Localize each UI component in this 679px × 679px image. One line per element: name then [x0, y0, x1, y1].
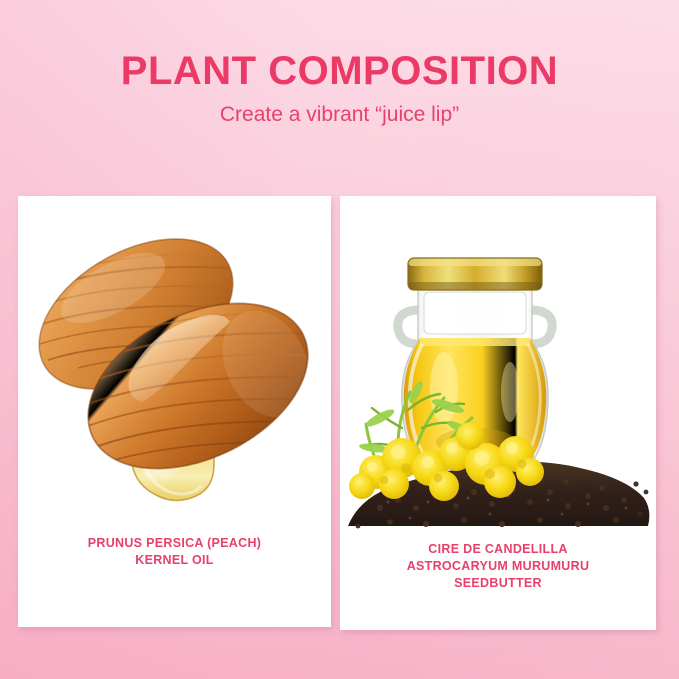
almonds-with-oil-drop-image — [18, 196, 331, 546]
caption-line: ASTROCARYUM MURUMURU — [348, 558, 648, 575]
poster-header: PLANT COMPOSITION Create a vibrant “juic… — [0, 48, 679, 128]
jar-handle-left — [398, 310, 418, 344]
jar-handle-right — [532, 310, 552, 344]
caption-line: PRUNUS PERSICA (PEACH) — [26, 535, 323, 552]
ingredient-caption: PRUNUS PERSICA (PEACH) KERNEL OIL — [26, 535, 323, 569]
ingredient-card-candelilla-murumuru[interactable]: CIRE DE CANDELILLA ASTROCARYUM MURUMURU … — [340, 196, 656, 630]
page-subtitle: Create a vibrant “juice lip” — [0, 102, 679, 128]
ingredient-caption: CIRE DE CANDELILLA ASTROCARYUM MURUMURU … — [348, 541, 648, 592]
caption-line: SEEDBUTTER — [348, 575, 648, 592]
ingredient-card-peach-kernel-oil[interactable]: PRUNUS PERSICA (PEACH) KERNEL OIL — [18, 196, 331, 627]
jar-lid-shape — [408, 258, 542, 290]
page-title: PLANT COMPOSITION — [0, 48, 679, 94]
plant-composition-poster: PLANT COMPOSITION Create a vibrant “juic… — [0, 0, 679, 679]
caption-line: CIRE DE CANDELILLA — [348, 541, 648, 558]
ingredient-card-list: PRUNUS PERSICA (PEACH) KERNEL OIL — [18, 196, 661, 631]
caption-line: KERNEL OIL — [26, 552, 323, 569]
oil-jar-with-flowers-and-seeds-image — [340, 196, 656, 546]
